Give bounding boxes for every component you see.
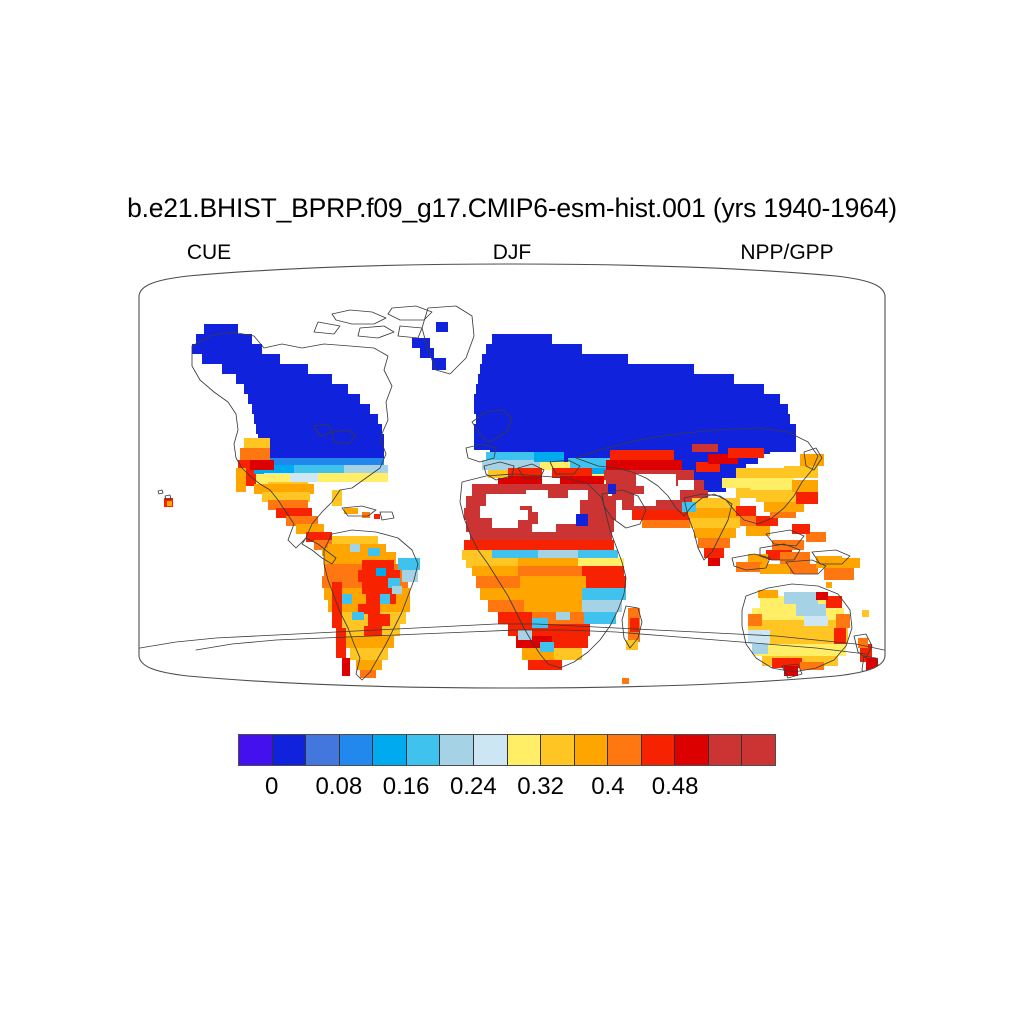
colorbar-tick-0.08: 0.08 [316, 772, 363, 802]
colorbar-segment-12 [642, 735, 676, 765]
figure-canvas: b.e21.BHIST_BPRP.f09_g17.CMIP6-esm-hist.… [0, 0, 1024, 1024]
colorbar-tick-0.48: 0.48 [652, 772, 699, 802]
map-svg [136, 262, 888, 690]
colorbar-segment-4 [373, 735, 407, 765]
colorbar-segment-0 [239, 735, 273, 765]
colorbar-segment-5 [407, 735, 441, 765]
colorbar-tick-0.16: 0.16 [383, 772, 430, 802]
colorbar-segment-2 [306, 735, 340, 765]
page-title: b.e21.BHIST_BPRP.f09_g17.CMIP6-esm-hist.… [0, 193, 1024, 223]
colorbar-segment-9 [541, 735, 575, 765]
colorbar-segment-6 [440, 735, 474, 765]
raster-australia [748, 590, 850, 676]
raster-sahel [462, 540, 624, 576]
colorbar-tick-0.24: 0.24 [450, 772, 497, 802]
colorbar-tick-0: 0 [265, 772, 278, 802]
map-data-layer [136, 262, 888, 690]
colorbar-segment-7 [474, 735, 508, 765]
colorbar-tick-0.32: 0.32 [517, 772, 564, 802]
colorbar-segment-8 [508, 735, 542, 765]
colorbar-tick-labels: 00.080.160.240.320.40.48 [238, 772, 776, 804]
world-map [136, 262, 888, 690]
colorbar-segment-10 [575, 735, 609, 765]
colorbar-segment-15 [742, 735, 775, 765]
colorbar-tick-0.4: 0.4 [591, 772, 624, 802]
colorbar-segment-3 [340, 735, 374, 765]
colorbar-segment-14 [709, 735, 743, 765]
colorbar-segment-1 [273, 735, 307, 765]
colorbar-segment-11 [608, 735, 642, 765]
raster-sahara [464, 484, 616, 542]
colorbar[interactable] [238, 734, 776, 766]
colorbar-segment-13 [675, 735, 709, 765]
